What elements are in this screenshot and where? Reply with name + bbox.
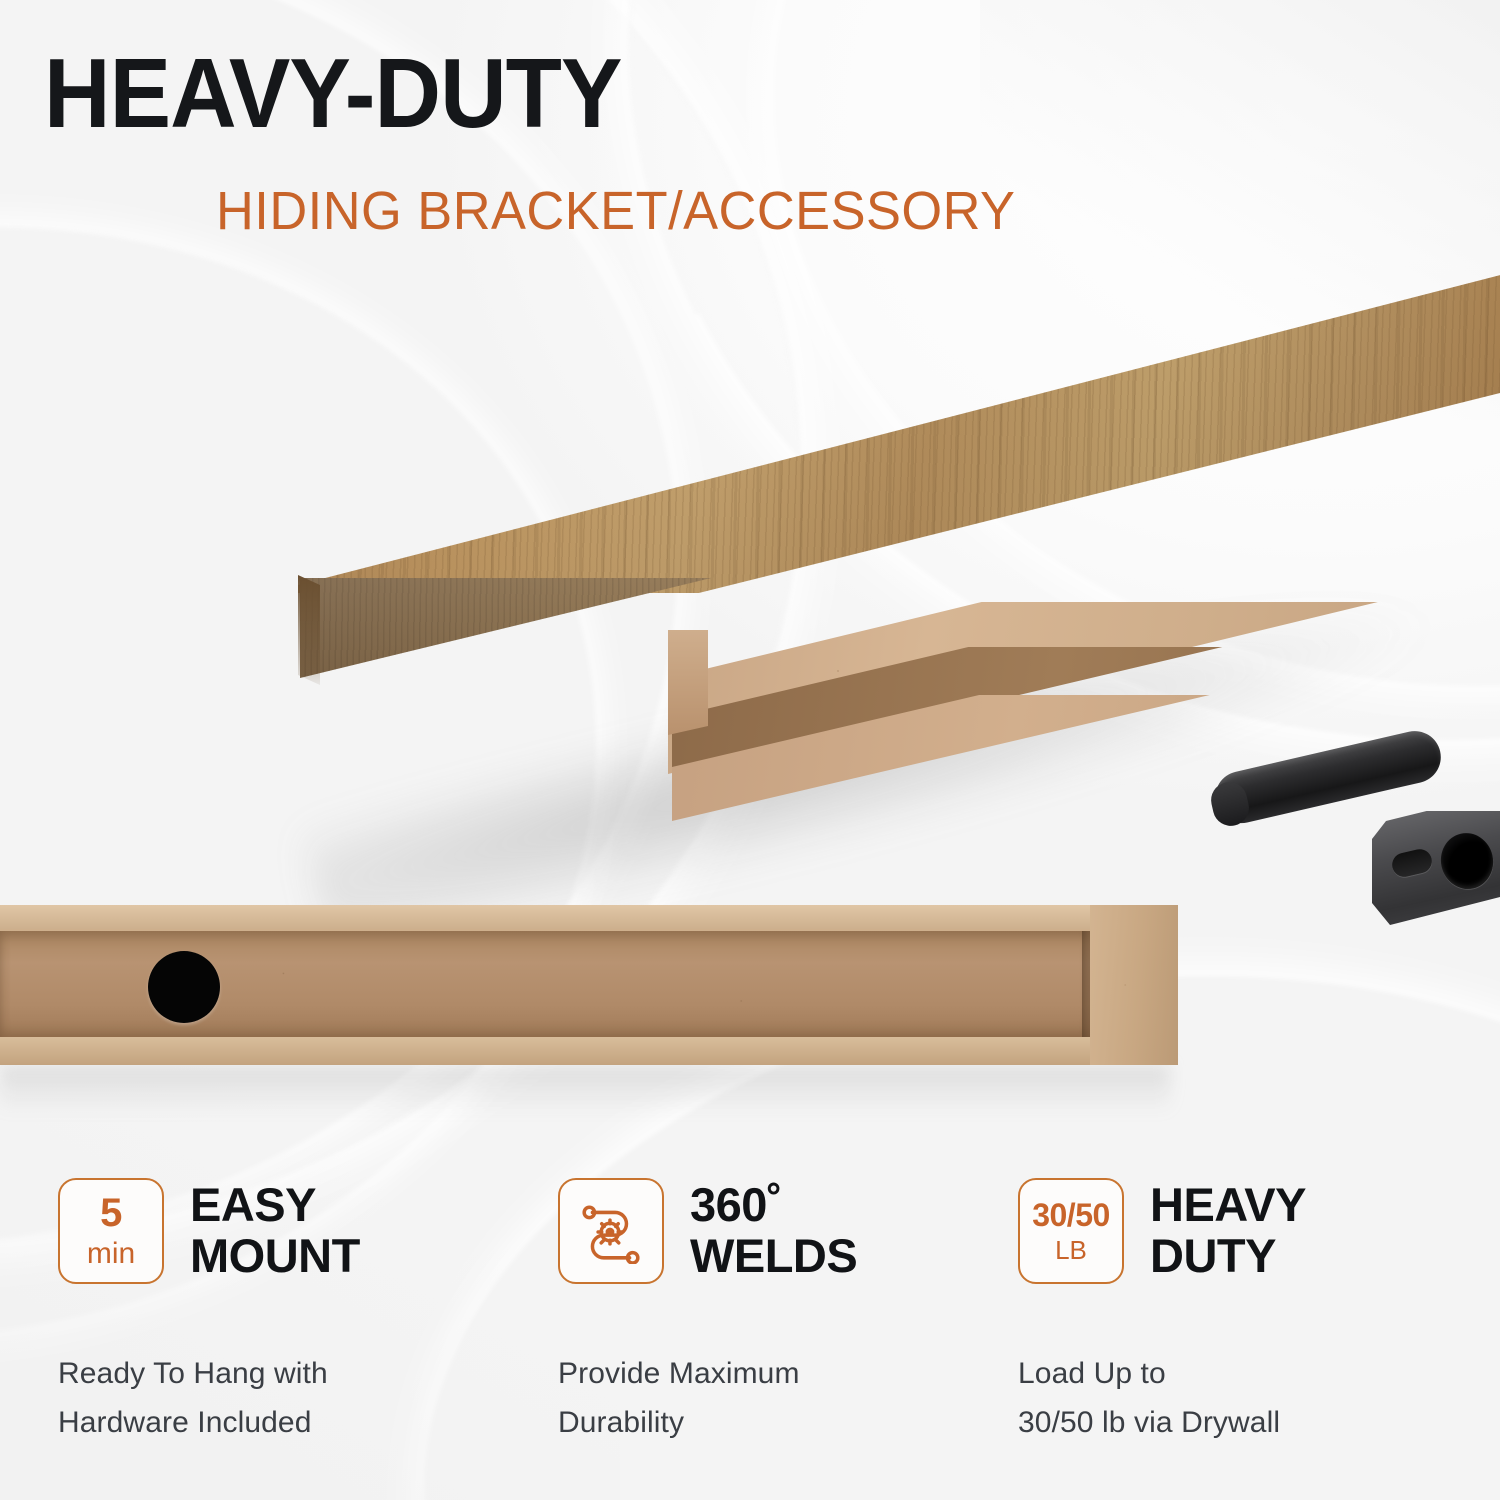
feature-title: HEAVY DUTY bbox=[1150, 1178, 1306, 1282]
badge-value: 30/50 bbox=[1032, 1199, 1110, 1231]
feature-title-line1: HEAVY bbox=[1150, 1180, 1306, 1231]
page-subtitle: HIDING BRACKET/ACCESSORY bbox=[216, 184, 1015, 238]
feature-description: Ready To Hang with Hardware Included bbox=[58, 1350, 518, 1447]
feature-title-line2: MOUNT bbox=[190, 1231, 360, 1282]
weight-capacity-badge: 30/50 LB bbox=[1018, 1178, 1124, 1284]
feature-360-welds: 360˚ WELDS Provide Maximum Durability bbox=[558, 1178, 1018, 1468]
feature-desc-line2: Hardware Included bbox=[58, 1399, 518, 1448]
feature-title-line2: WELDS bbox=[690, 1231, 857, 1282]
feature-title: 360˚ WELDS bbox=[690, 1178, 857, 1282]
feature-title: EASY MOUNT bbox=[190, 1178, 360, 1282]
cutaway-top-edge bbox=[0, 905, 1160, 929]
badge-value: 5 bbox=[100, 1193, 122, 1233]
feature-header: 360˚ WELDS bbox=[558, 1178, 1018, 1284]
cutaway-end-cap bbox=[1090, 905, 1178, 1065]
feature-easy-mount: 5 min EASY MOUNT Ready To Hang with Hard… bbox=[58, 1178, 518, 1468]
page-title: HEAVY-DUTY bbox=[44, 44, 622, 142]
product-infographic: HEAVY-DUTY HIDING BRACKET/ACCESSORY bbox=[0, 0, 1500, 1500]
hero-product-photo bbox=[0, 255, 1500, 865]
feature-header: 5 min EASY MOUNT bbox=[58, 1178, 518, 1284]
feature-desc-line1: Ready To Hang with bbox=[58, 1350, 518, 1399]
badge-unit: LB bbox=[1055, 1237, 1087, 1263]
feature-desc-line2: 30/50 lb via Drywall bbox=[1018, 1399, 1478, 1448]
feature-title-line2: DUTY bbox=[1150, 1231, 1306, 1282]
shelf-cut-end-core bbox=[668, 630, 714, 740]
detail-cutaway-photo bbox=[0, 905, 1180, 1080]
feature-desc-line2: Durability bbox=[558, 1399, 1018, 1448]
weld-path-gear-icon bbox=[558, 1178, 664, 1284]
badge-unit: min bbox=[87, 1239, 135, 1269]
cutaway-mounting-hole bbox=[148, 951, 220, 1023]
feature-title-line1: 360˚ bbox=[690, 1180, 857, 1231]
feature-desc-line1: Provide Maximum bbox=[558, 1350, 1018, 1399]
five-minute-badge: 5 min bbox=[58, 1178, 164, 1284]
feature-title-line1: EASY bbox=[190, 1180, 360, 1231]
feature-row: 5 min EASY MOUNT Ready To Hang with Hard… bbox=[0, 1178, 1500, 1468]
feature-description: Provide Maximum Durability bbox=[558, 1350, 1018, 1447]
shelf-top-highlight bbox=[298, 273, 1500, 593]
feature-description: Load Up to 30/50 lb via Drywall bbox=[1018, 1350, 1478, 1447]
cutaway-drop-shadow bbox=[0, 1065, 1170, 1113]
feature-heavy-duty: 30/50 LB HEAVY DUTY Load Up to 30/50 lb … bbox=[1018, 1178, 1478, 1468]
cutaway-bottom-edge bbox=[0, 1037, 1160, 1065]
feature-header: 30/50 LB HEAVY DUTY bbox=[1018, 1178, 1478, 1284]
feature-desc-line1: Load Up to bbox=[1018, 1350, 1478, 1399]
